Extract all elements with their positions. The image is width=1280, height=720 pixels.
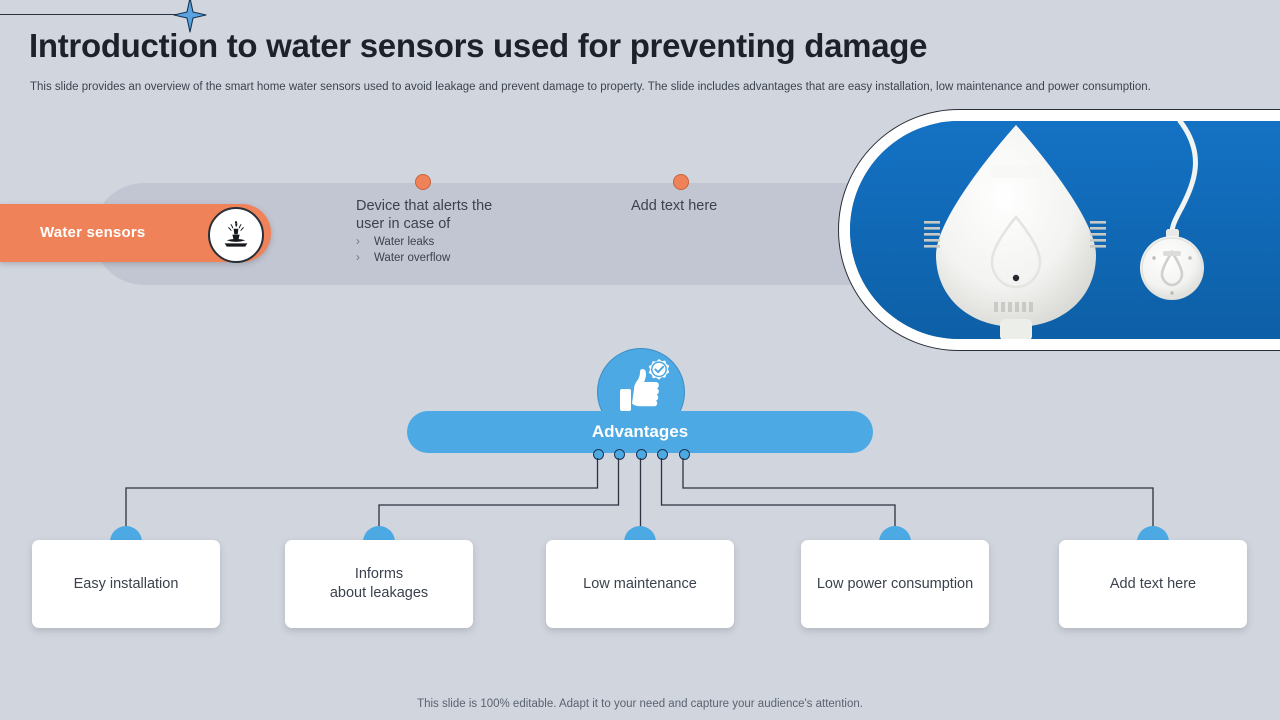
step-dot-2 <box>673 174 689 190</box>
bullet-label: Water leaks <box>374 236 434 248</box>
advantage-card-4[interactable]: Low power consumption <box>801 540 989 628</box>
advantage-card-4-label: Low power consumption <box>801 540 989 628</box>
slide-footer: This slide is 100% editable. Adapt it to… <box>0 698 1280 710</box>
advantage-card-2-line1: Informs <box>330 565 428 584</box>
bullet-label: Water overflow <box>374 252 450 264</box>
advantage-card-1-line1: Easy installation <box>74 575 179 594</box>
step-1-text: Device that alerts the user in case of <box>356 197 526 233</box>
list-item: ›Water overflow <box>356 250 546 266</box>
step-1-bullets: ›Water leaks ›Water overflow <box>356 234 546 266</box>
step-1-line1: Device that alerts the <box>356 197 526 215</box>
advantage-card-3-line1: Low maintenance <box>583 575 697 594</box>
advantage-card-4-line1: Low power consumption <box>817 575 973 594</box>
advantage-card-5-line1: Add text here <box>1110 575 1196 594</box>
page-subtitle: This slide provides an overview of the s… <box>30 81 1230 93</box>
advantage-card-5-label: Add text here <box>1059 540 1247 628</box>
advantage-card-5[interactable]: Add text here <box>1059 540 1247 628</box>
decorative-rule <box>0 14 190 15</box>
advantage-card-2-label: Informs about leakages <box>285 540 473 628</box>
water-sensors-pill-label: Water sensors <box>40 204 145 262</box>
advantage-card-2-line2: about leakages <box>330 584 428 603</box>
chevron-right-icon: › <box>356 234 374 250</box>
advantage-card-3[interactable]: Low maintenance <box>546 540 734 628</box>
advantage-card-1[interactable]: Easy installation <box>32 540 220 628</box>
water-sensor-photo <box>850 121 1280 339</box>
page-title: Introduction to water sensors used for p… <box>29 27 927 65</box>
step-2-text: Add text here <box>631 197 821 215</box>
chevron-right-icon: › <box>356 250 374 266</box>
water-sensor-photo-frame <box>838 109 1280 351</box>
advantage-card-2[interactable]: Informs about leakages <box>285 540 473 628</box>
advantage-card-1-label: Easy installation <box>32 540 220 628</box>
advantage-card-3-label: Low maintenance <box>546 540 734 628</box>
step-1-line2: user in case of <box>356 215 526 233</box>
list-item: ›Water leaks <box>356 234 546 250</box>
step-dot-1 <box>415 174 431 190</box>
slide-canvas: Introduction to water sensors used for p… <box>0 0 1280 720</box>
water-fountain-icon <box>208 207 264 263</box>
step-2-line1: Add text here <box>631 197 821 215</box>
